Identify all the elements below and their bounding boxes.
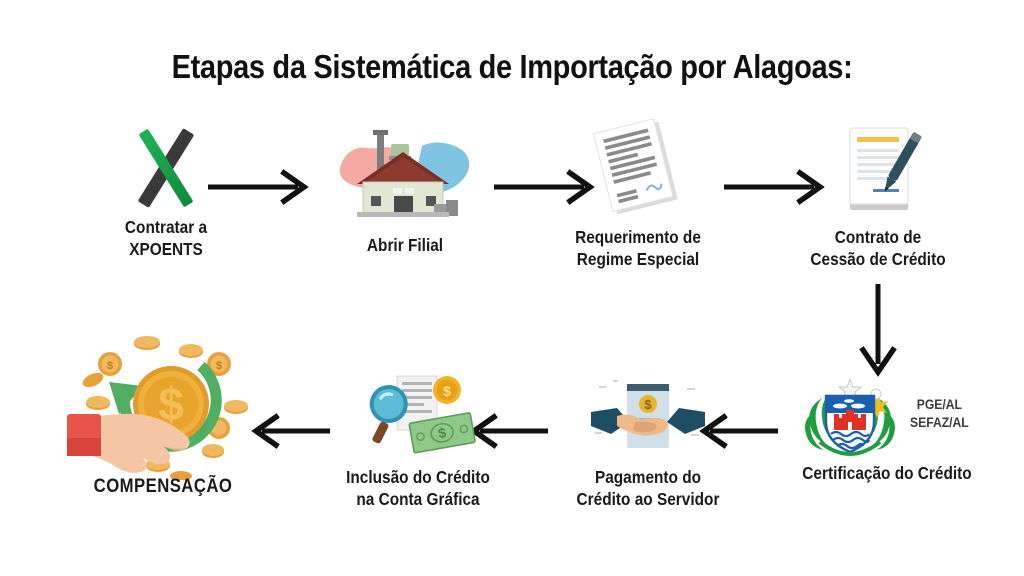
step-certificacao-credito[interactable]: PGE/AL SEFAZ/AL Certificação do Crédito	[762, 378, 1012, 484]
factory-on-map-icon	[330, 120, 480, 220]
step-label-line1: COMPENSAÇÃO	[71, 476, 256, 498]
step-label-line1: Requerimento de	[552, 226, 724, 248]
svg-text:$: $	[443, 383, 451, 399]
step-label-line2: Crédito ao Servidor	[560, 488, 736, 510]
arrow-right-1	[206, 170, 314, 204]
magnifier-money-icon: $ $	[353, 372, 483, 458]
svg-text:$: $	[216, 360, 222, 372]
step-abrir-filial[interactable]: Abrir Filial	[325, 120, 485, 256]
step-label-line1: Inclusão do Crédito	[330, 466, 506, 488]
step-label-line2: Cessão de Crédito	[790, 248, 966, 270]
svg-text:$: $	[644, 397, 652, 412]
step-label-line1: Contrato de	[790, 226, 966, 248]
step-label-line1: Contratar a	[78, 216, 254, 238]
arrow-down-1	[858, 284, 898, 380]
step-label-line1: Pagamento do	[560, 466, 736, 488]
xpoents-logo-icon	[123, 126, 209, 210]
alagoas-coat-of-arms-icon: PGE/AL SEFAZ/AL	[762, 378, 1012, 460]
step-inclusao-credito-conta-grafica[interactable]: $ $ Inclusão do Crédito na Conta Gráfic	[318, 372, 518, 510]
infographic-canvas: Etapas da Sistemática de Importação por …	[0, 0, 1024, 576]
step-label-line1: Abrir Filial	[335, 234, 476, 256]
step-label-line1: Certificação do Crédito	[777, 462, 997, 484]
page-title: Etapas da Sistemática de Importação por …	[61, 48, 962, 86]
step-compensacao[interactable]: $ $	[58, 330, 268, 498]
document-lines-icon	[583, 118, 693, 218]
step-pagamento-credito-servidor[interactable]: $ Pagamento do Crédito ao Servidor	[548, 378, 748, 510]
svg-text:$: $	[107, 360, 113, 372]
org-label-pge: PGE/AL SEFAZ/AL	[910, 396, 969, 432]
step-label-line2: XPOENTS	[78, 238, 254, 260]
org-label-line1: PGE/AL	[910, 396, 969, 414]
handshake-document-icon: $	[583, 378, 713, 458]
org-label-line2: SEFAZ/AL	[910, 414, 969, 432]
step-requerimento-regime-especial[interactable]: Requerimento de Regime Especial	[540, 118, 736, 270]
contract-with-pen-icon	[824, 118, 932, 218]
hand-coins-refresh-icon: $ $	[63, 330, 263, 480]
step-label-line2: na Conta Gráfica	[330, 488, 506, 510]
step-label-line2: Regime Especial	[552, 248, 724, 270]
step-contrato-cessao-credito[interactable]: Contrato de Cessão de Crédito	[778, 118, 978, 270]
